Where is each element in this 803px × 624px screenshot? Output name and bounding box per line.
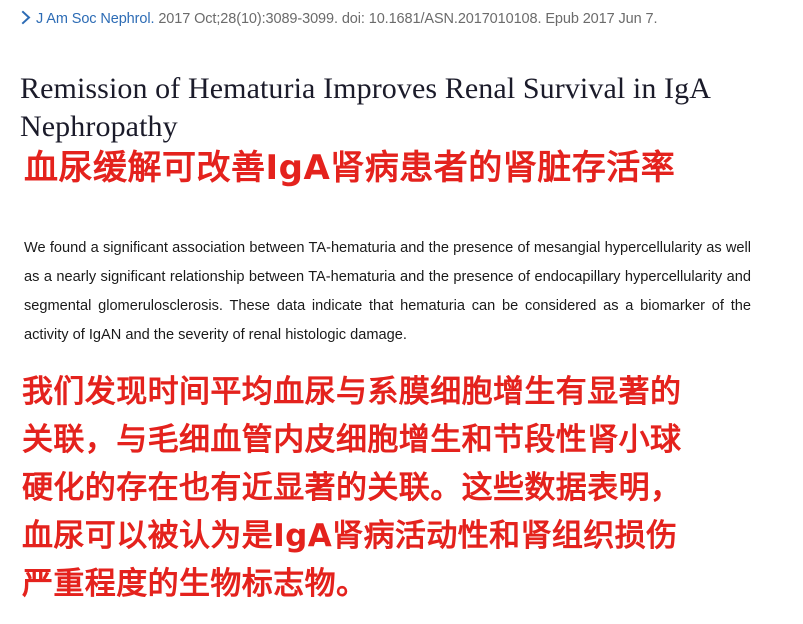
abstract-chinese-line: 我们发现时间平均血尿与系膜细胞增生有显著的 [22,368,767,416]
article-title-english: Remission of Hematuria Improves Renal Su… [20,70,760,146]
abstract-chinese-line: 血尿可以被认为是IgA肾病活动性和肾组织损伤 [22,512,767,560]
citation-text: J Am Soc Nephrol. 2017 Oct;28(10):3089-3… [36,10,657,28]
article-title-chinese: 血尿缓解可改善IgA肾病患者的肾脏存活率 [24,147,779,189]
journal-name-link[interactable]: J Am Soc Nephrol. [36,11,154,27]
abstract-chinese-line: 关联，与毛细血管内皮细胞增生和节段性肾小球 [22,416,767,464]
article-page: J Am Soc Nephrol. 2017 Oct;28(10):3089-3… [0,0,803,624]
abstract-english: We found a significant association betwe… [24,234,751,350]
abstract-chinese-line: 硬化的存在也有近显著的关联。这些数据表明， [22,464,767,512]
abstract-chinese: 我们发现时间平均血尿与系膜细胞增生有显著的 关联，与毛细血管内皮细胞增生和节段性… [22,368,767,608]
abstract-chinese-line: 严重程度的生物标志物。 [22,560,767,608]
citation-details: 2017 Oct;28(10):3089-3099. doi: 10.1681/… [154,11,657,27]
citation-line: J Am Soc Nephrol. 2017 Oct;28(10):3089-3… [20,8,790,28]
chevron-right-icon[interactable] [20,10,33,25]
